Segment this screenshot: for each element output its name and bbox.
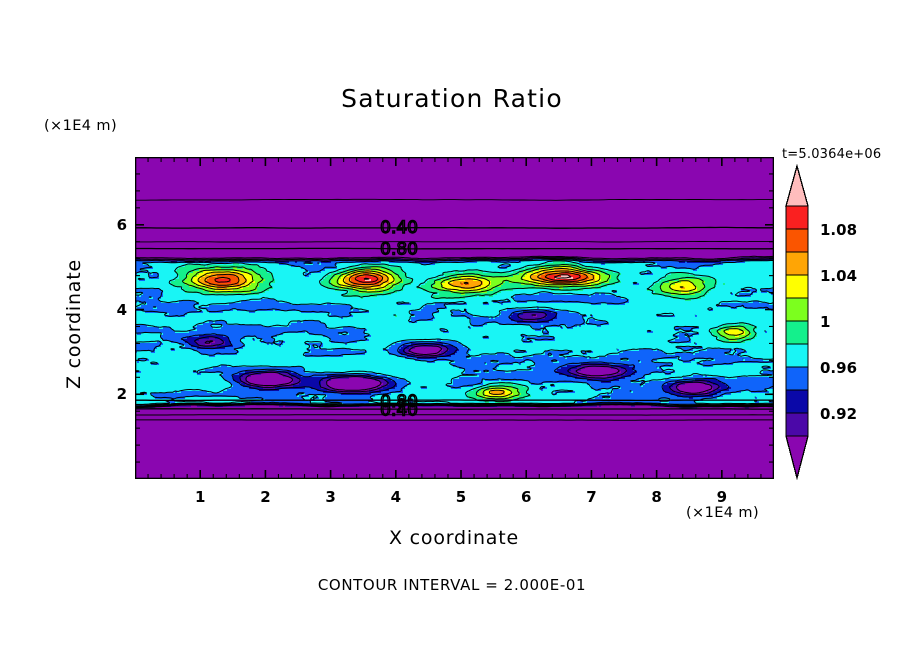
contour-label: 0.40 bbox=[380, 400, 418, 420]
y-tick-label: 6 bbox=[105, 216, 127, 234]
colorbar-tick-label: 1.04 bbox=[820, 267, 857, 285]
colorbar-bottom-arrow bbox=[786, 436, 808, 478]
colorbar-tick-label: 1.08 bbox=[820, 221, 857, 239]
contour-label: 0.80 bbox=[380, 239, 418, 259]
x-axis-title: X coordinate bbox=[135, 527, 773, 549]
x-tick-label: 8 bbox=[651, 488, 661, 506]
x-tick-label: 6 bbox=[521, 488, 531, 506]
colorbar-top-arrow bbox=[786, 166, 808, 206]
y-tick-label: 4 bbox=[105, 301, 127, 319]
colorbar-tick-label: 0.92 bbox=[820, 405, 857, 423]
contour-label: 0.40 bbox=[380, 218, 418, 238]
colorbar-tick-label: 0.96 bbox=[820, 359, 857, 377]
colorbar-band bbox=[786, 344, 808, 367]
y-tick-label: 2 bbox=[105, 385, 127, 403]
contour-plot: 0.400.800.800.40 bbox=[135, 157, 774, 479]
colorbar-band bbox=[786, 252, 808, 275]
x-tick-label: 7 bbox=[586, 488, 596, 506]
colorbar-band bbox=[786, 413, 808, 436]
colorbar-band bbox=[786, 206, 808, 229]
colorbar-band bbox=[786, 367, 808, 390]
colorbar-tick-label: 1 bbox=[820, 313, 830, 331]
colorbar-band bbox=[786, 298, 808, 321]
colorbar-band bbox=[786, 321, 808, 344]
colorbar-band bbox=[786, 229, 808, 252]
y-axis-title: Z coordinate bbox=[63, 214, 85, 434]
figure-canvas: Saturation Ratio (×1E4 m) t=5.0364e+06 0… bbox=[0, 0, 904, 654]
x-tick-label: 4 bbox=[391, 488, 401, 506]
colorbar-band bbox=[786, 390, 808, 413]
x-tick-label: 2 bbox=[260, 488, 270, 506]
chart-title: Saturation Ratio bbox=[0, 84, 904, 113]
contour-interval-note: CONTOUR INTERVAL = 2.000E-01 bbox=[0, 576, 904, 594]
colorbar bbox=[780, 160, 820, 520]
x-axis-units: (×1E4 m) bbox=[686, 505, 759, 521]
x-tick-label: 5 bbox=[456, 488, 466, 506]
x-tick-label: 3 bbox=[325, 488, 335, 506]
y-axis-units: (×1E4 m) bbox=[44, 118, 117, 134]
colorbar-band bbox=[786, 275, 808, 298]
x-tick-label: 1 bbox=[195, 488, 205, 506]
x-tick-label: 9 bbox=[717, 488, 727, 506]
